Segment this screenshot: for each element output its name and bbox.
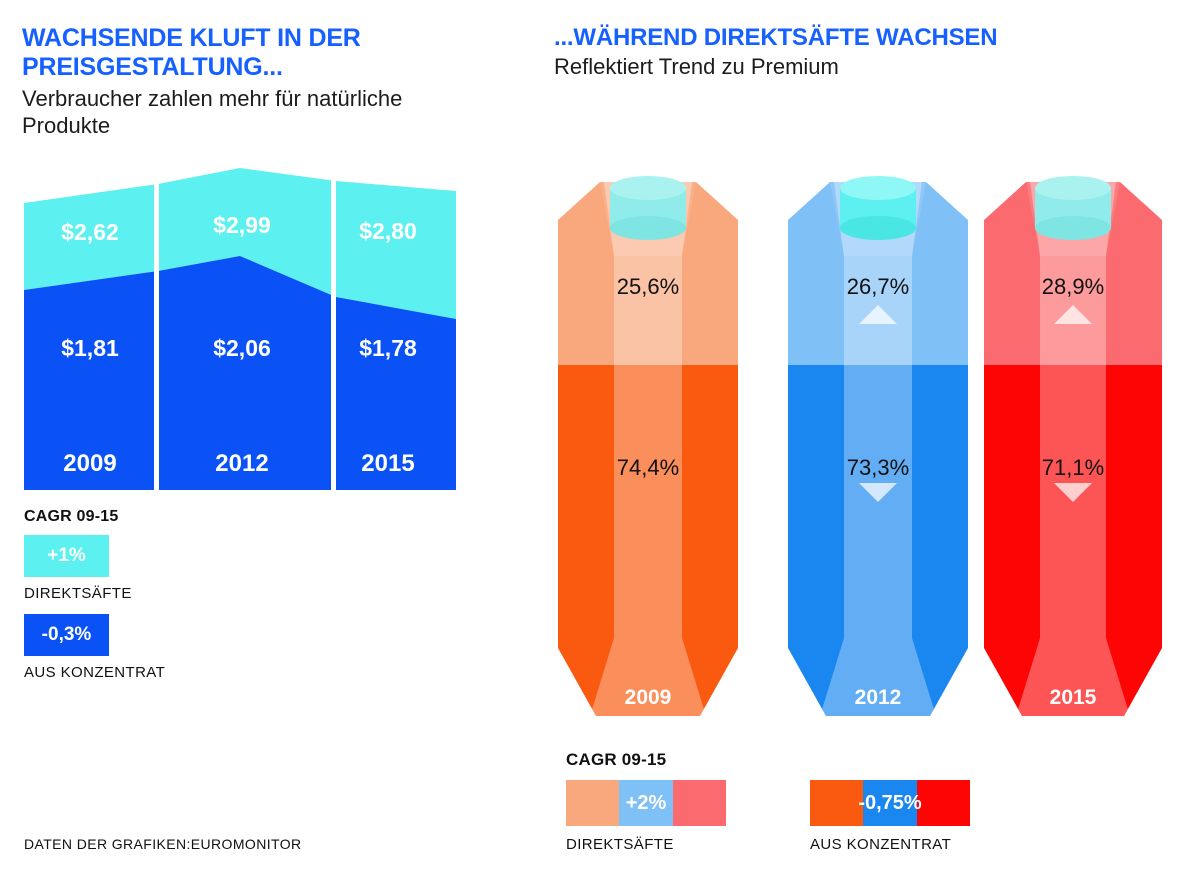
carton-2012-top-pct: 26,7% — [778, 274, 978, 300]
carton-2009-year: 2009 — [548, 686, 748, 710]
legend-caption-direktsaefte: DIREKTSÄFTE — [24, 585, 274, 602]
left-panel-subtitle: Verbraucher zahlen mehr für natürliche P… — [22, 85, 442, 140]
value-label-direktsaefte-2012: $2,99 — [172, 212, 312, 239]
carton-cap — [610, 176, 686, 240]
carton-2009-top-pct: 25,6% — [548, 274, 748, 300]
carton-cap — [840, 176, 916, 240]
legend-value-aus-konzentrat: -0,3% — [42, 624, 92, 646]
legend-bar-direktsaefte: +2% — [566, 780, 726, 826]
right-legend: CAGR 09-15 +2% DIREKTSÄFTE -0,75% AUS KO… — [566, 750, 1046, 853]
left-panel-heading: WACHSENDE KLUFT IN DER PREISGESTALTUNG..… — [22, 24, 442, 140]
carton-2015: 28,9% 71,1% 2015 — [978, 168, 1168, 730]
axis-label-2009: 2009 — [20, 450, 160, 478]
value-label-konzentrat-2009: $1,81 — [20, 335, 160, 362]
carton-2015-year: 2015 — [978, 686, 1168, 710]
left-legend-title: CAGR 09-15 — [24, 508, 274, 526]
carton-2009: 25,6% 74,4% 2009 — [548, 168, 748, 730]
carton-2012-year: 2012 — [778, 686, 978, 710]
right-panel-title: ...WÄHREND DIREKTSÄFTE WACHSEN — [554, 24, 1154, 52]
carton-2012-bottom-pct: 73,3% — [778, 455, 978, 481]
legend-value-aus-konzentrat: -0,75% — [810, 780, 970, 826]
series-divider — [154, 170, 159, 490]
carton-2009-bottom-pct: 74,4% — [548, 455, 748, 481]
legend-bar-aus-konzentrat: -0,75% — [810, 780, 970, 826]
legend-caption-aus-konzentrat: AUS KONZENTRAT — [810, 836, 970, 853]
legend-chip-aus-konzentrat: -0,3% — [24, 614, 109, 656]
legend-caption-aus-konzentrat: AUS KONZENTRAT — [24, 664, 274, 681]
price-gap-area-chart: $2,62 $2,99 $2,80 $1,81 $2,06 $1,78 2009… — [0, 150, 480, 510]
value-label-direktsaefte-2009: $2,62 — [20, 219, 160, 246]
right-legend-title: CAGR 09-15 — [566, 750, 1046, 770]
carton-2012: 26,7% 73,3% 2012 — [778, 168, 978, 730]
carton-2015-bottom-pct: 71,1% — [978, 455, 1168, 481]
right-panel-heading: ...WÄHREND DIREKTSÄFTE WACHSEN Reflektie… — [554, 24, 1154, 81]
left-panel-title: WACHSENDE KLUFT IN DER PREISGESTALTUNG..… — [22, 24, 442, 83]
value-label-direktsaefte-2015: $2,80 — [318, 218, 458, 245]
right-panel-subtitle: Reflektiert Trend zu Premium — [554, 53, 1154, 81]
value-label-konzentrat-2012: $2,06 — [172, 335, 312, 362]
axis-label-2015: 2015 — [318, 450, 458, 478]
right-legend-item-aus-konzentrat: -0,75% AUS KONZENTRAT — [810, 780, 970, 853]
left-legend: CAGR 09-15 +1% DIREKTSÄFTE -0,3% AUS KON… — [24, 508, 274, 693]
legend-chip-direktsaefte: +1% — [24, 535, 109, 577]
right-legend-item-direktsaefte: +2% DIREKTSÄFTE — [566, 780, 726, 853]
legend-caption-direktsaefte: DIREKTSÄFTE — [566, 836, 726, 853]
carton-2015-top-pct: 28,9% — [978, 274, 1168, 300]
legend-value-direktsaefte: +2% — [566, 780, 726, 826]
carton-cap — [1035, 176, 1111, 240]
legend-value-direktsaefte: +1% — [47, 545, 86, 567]
axis-label-2012: 2012 — [172, 450, 312, 478]
value-label-konzentrat-2015: $1,78 — [318, 335, 458, 362]
source-note: DATEN DER GRAFIKEN:EUROMONITOR — [24, 836, 302, 852]
